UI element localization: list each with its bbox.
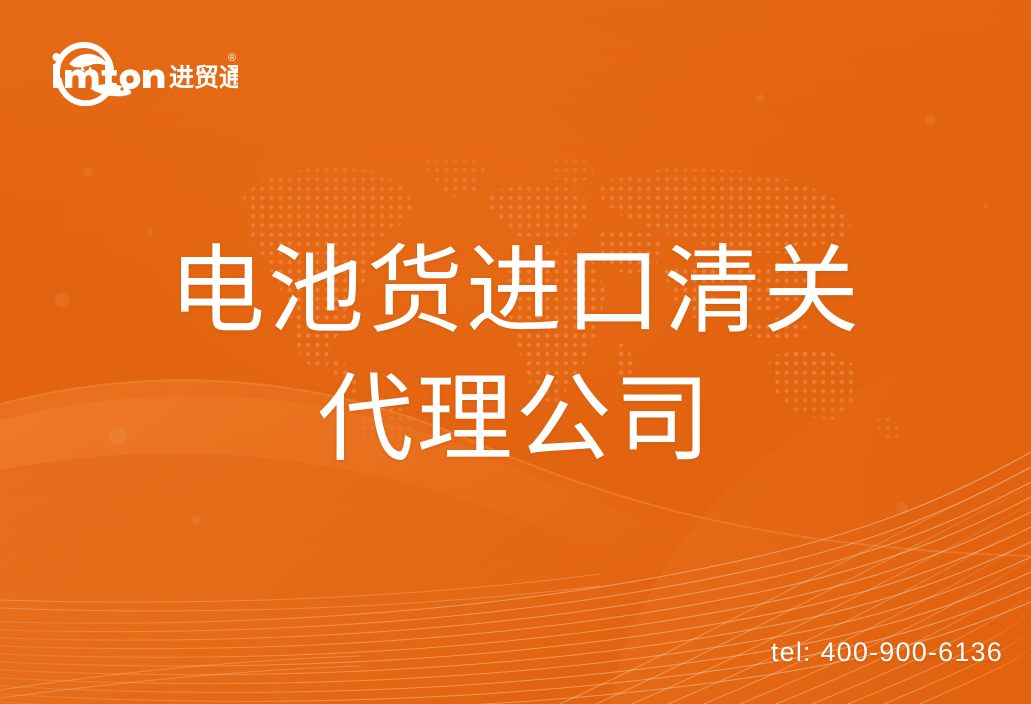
promo-banner: 进贸通 ® 电池货进口清关 代理公司 tel: 400-900-6136 [0, 0, 1031, 704]
headline: 电池货进口清关 代理公司 [0, 228, 1031, 484]
brand-logo[interactable]: 进贸通 ® [38, 28, 238, 106]
globe-logo-icon: 进贸通 ® [38, 28, 238, 106]
headline-line-1: 电池货进口清关 [0, 228, 1031, 356]
registered-trademark-icon: ® [228, 52, 236, 64]
logo-chinese-name: 进贸通 [169, 63, 238, 92]
headline-line-2: 代理公司 [0, 356, 1031, 484]
contact-phone[interactable]: tel: 400-900-6136 [771, 637, 1003, 668]
